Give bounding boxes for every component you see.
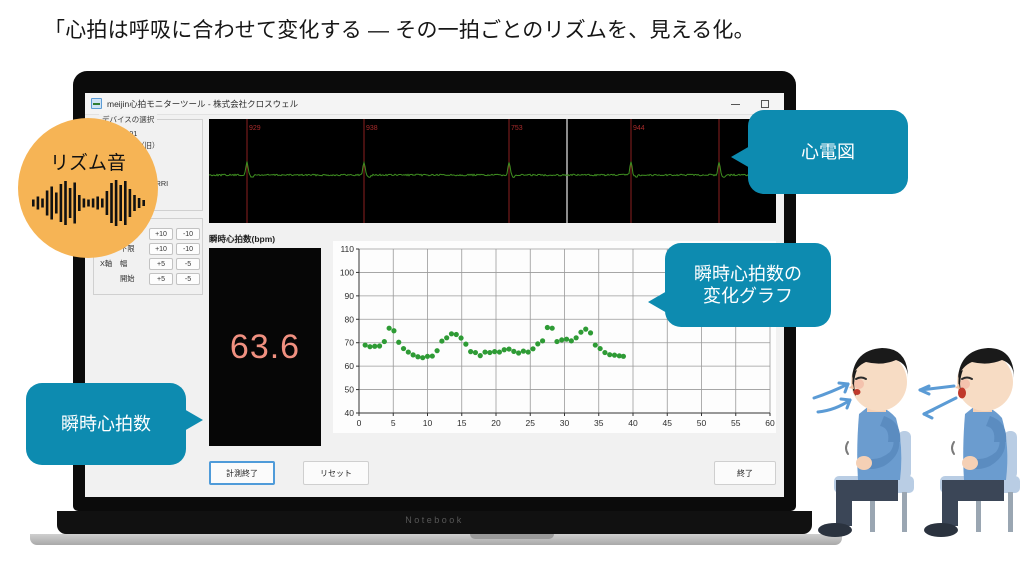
laptop-notch [470,534,554,539]
app-icon [91,98,102,109]
x-start-increase-button[interactable]: +5 [149,273,173,285]
svg-text:60: 60 [765,418,775,428]
callout-bpm-label: 瞬時心拍数 [61,413,151,436]
svg-text:25: 25 [526,418,536,428]
svg-text:929: 929 [249,125,261,132]
ecg-waveform: 929938753944 [209,119,776,223]
svg-text:944: 944 [633,125,645,132]
svg-text:10: 10 [423,418,433,428]
ecg-panel[interactable]: 929938753944 [209,119,776,223]
y-lower-increase-button[interactable]: +10 [149,243,173,255]
callout-graph: 瞬時心拍数の 変化グラフ [665,243,831,327]
laptop-brand: Notebook [57,515,812,525]
svg-text:15: 15 [457,418,467,428]
callout-ecg-label: 心電図 [801,141,855,164]
svg-text:753: 753 [511,125,523,132]
svg-text:80: 80 [345,314,355,324]
scale-field-label: 開始 [120,274,146,284]
callout-sound-label: リズム音 [50,148,126,175]
callout-graph-label: 瞬時心拍数の 変化グラフ [694,263,802,308]
scale-row-x-start: 開始 +5 -5 [100,273,196,285]
app-title: meijin心拍モニターツール - 株式会社クロスウェル [107,98,298,110]
seated-person-exhaling [920,348,1020,537]
scale-row-x-width: X軸 幅 +5 -5 [100,258,196,270]
scale-axis-label: X軸 [100,259,120,269]
svg-text:35: 35 [594,418,604,428]
callout-sound: リズム音 [18,118,158,258]
bpm-panel: 瞬時心拍数(bpm) 63.6 [209,233,321,446]
svg-text:90: 90 [345,291,355,301]
callout-tail [184,409,203,431]
svg-text:40: 40 [628,418,638,428]
callout-tail [648,291,667,313]
breathing-illustration [812,330,1024,545]
audio-waveform-icon [29,177,147,229]
svg-text:0: 0 [357,418,362,428]
svg-text:5: 5 [391,418,396,428]
laptop-foot [30,534,842,545]
stop-measurement-button[interactable]: 計測終了 [209,461,275,485]
reset-button[interactable]: リセット [303,461,369,485]
exhale-arrows [920,386,956,414]
y-upper-decrease-button[interactable]: -10 [176,228,200,240]
x-start-decrease-button[interactable]: -5 [176,273,200,285]
callout-graph-line2: 変化グラフ [703,286,793,306]
svg-text:50: 50 [345,385,355,395]
y-upper-increase-button[interactable]: +10 [149,228,173,240]
scale-field-label: 幅 [120,259,146,269]
svg-text:938: 938 [366,125,378,132]
svg-text:60: 60 [345,361,355,371]
app-titlebar: meijin心拍モニターツール - 株式会社クロスウェル [85,93,784,115]
callout-graph-line1: 瞬時心拍数の [694,264,802,284]
svg-text:70: 70 [345,338,355,348]
bpm-value: 63.6 [230,328,300,367]
svg-text:55: 55 [731,418,741,428]
svg-text:30: 30 [560,418,570,428]
svg-text:100: 100 [340,267,354,277]
svg-text:110: 110 [340,244,354,254]
callout-ecg: 心電図 [748,110,908,194]
svg-text:40: 40 [345,408,355,418]
x-width-decrease-button[interactable]: -5 [176,258,200,270]
laptop-base: Notebook [57,511,812,534]
svg-text:50: 50 [697,418,707,428]
button-bar: 計測終了 リセット 終了 [209,461,776,487]
y-lower-decrease-button[interactable]: -10 [176,243,200,255]
minimize-button[interactable] [720,93,750,115]
page-title: 「心拍は呼吸に合わせて変化する ― その一拍ごとのリズムを、見える化。 [44,14,755,44]
svg-text:45: 45 [663,418,673,428]
svg-text:20: 20 [491,418,501,428]
bpm-display: 63.6 [209,248,321,446]
quit-button[interactable]: 終了 [714,461,776,485]
bpm-label: 瞬時心拍数(bpm) [209,233,321,245]
callout-bpm: 瞬時心拍数 [26,383,186,465]
seated-person-inhaling [814,348,914,537]
callout-tail [731,146,750,168]
x-width-increase-button[interactable]: +5 [149,258,173,270]
slide-canvas: 「心拍は呼吸に合わせて変化する ― その一拍ごとのリズムを、見える化。 meij… [0,0,1024,576]
